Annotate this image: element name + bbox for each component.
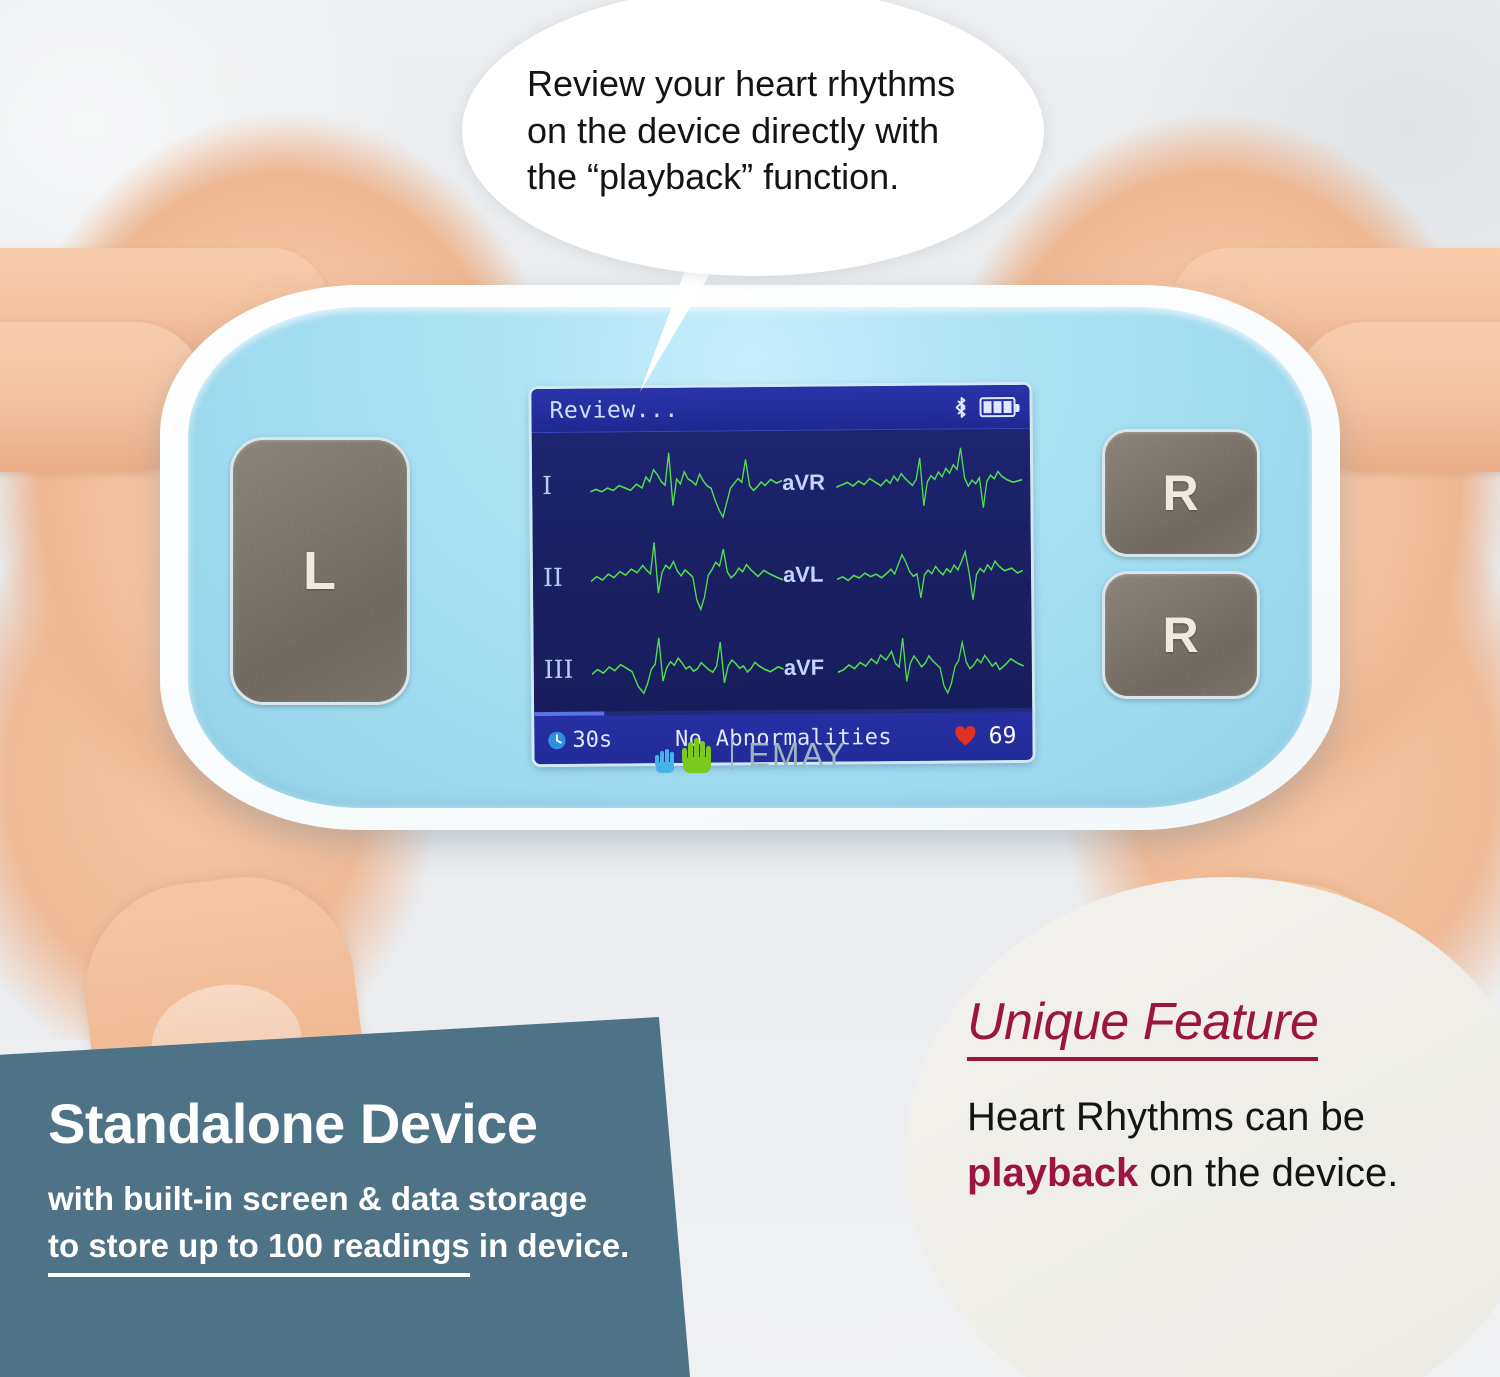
ecg-trace-II [591,539,784,613]
bluetooth-icon [953,395,969,419]
unique-feature-accent: playback [967,1151,1138,1195]
unique-feature-body-pre: Heart Rhythms can be [967,1095,1365,1139]
lead-label-II: II [543,563,591,592]
ecg-trace-aVR [836,445,1023,519]
standalone-device-title: Standalone Device [48,1095,656,1154]
lead-label-aVF: aVF [784,654,838,680]
speech-bubble-text: Review your heart rhythms on the device … [513,61,993,201]
lead-cell: II [543,539,784,613]
electrode-right-top-label: R [1162,464,1199,522]
emay-hands-icon [653,736,716,774]
electrode-right-bottom-label: R [1162,606,1199,664]
hand-blue-icon [653,746,679,774]
lead-label-aVL: aVL [783,562,837,588]
unique-feature-body: Heart Rhythms can be playback on the dev… [967,1089,1467,1201]
standalone-line-1: with built-in screen & data storage [48,1176,656,1223]
lead-row: II aVL [543,527,1024,623]
battery-icon [979,396,1015,416]
device-screen[interactable]: Review... I [531,385,1032,764]
ecg-waveform-area: I aVR [532,429,1032,716]
standalone-line-2: to store up to 100 readings in device. [48,1223,656,1277]
electrode-left-label: L [303,540,337,602]
lead-cell: I [542,447,783,521]
standalone-line-2-tail: in device. [470,1227,630,1264]
lead-cell: III [544,632,785,706]
ecg-trace-aVL [837,537,1024,611]
ecg-trace-aVF [837,629,1024,703]
ecg-trace-III [592,632,785,706]
unique-feature-title: Unique Feature [967,992,1318,1061]
lead-cell: aVF [783,629,1024,703]
lead-row: III aVF [543,619,1024,715]
screen-status-icons [953,394,1015,419]
unique-feature-body-post: on the device. [1138,1151,1398,1195]
speech-bubble-tail [600,252,720,402]
device-faceplate: L R R Review... [188,307,1312,808]
ecg-trace-I [590,447,783,521]
lead-label-aVR: aVR [782,470,836,496]
ecg-device: L R R Review... [160,285,1340,830]
brand-name: EMAY [748,736,847,774]
electrode-pad-left[interactable]: L [230,437,410,705]
electrode-pad-right-bottom[interactable]: R [1102,571,1260,699]
hand-green-icon [680,736,716,774]
lead-cell: aVR [782,445,1023,519]
electrode-pad-right-top[interactable]: R [1102,429,1260,557]
standalone-device-subtitle: with built-in screen & data storage to s… [48,1176,656,1277]
lead-cell: aVL [783,537,1024,611]
emay-logo: EMAY [188,736,1312,774]
lead-label-III: III [544,655,592,684]
lead-row: I aVR [542,435,1023,531]
lead-label-I: I [542,470,590,499]
logo-divider [731,740,733,770]
standalone-device-panel: Standalone Device with built-in screen &… [0,1017,690,1377]
standalone-line-2-underlined: to store up to 100 readings [48,1223,470,1277]
